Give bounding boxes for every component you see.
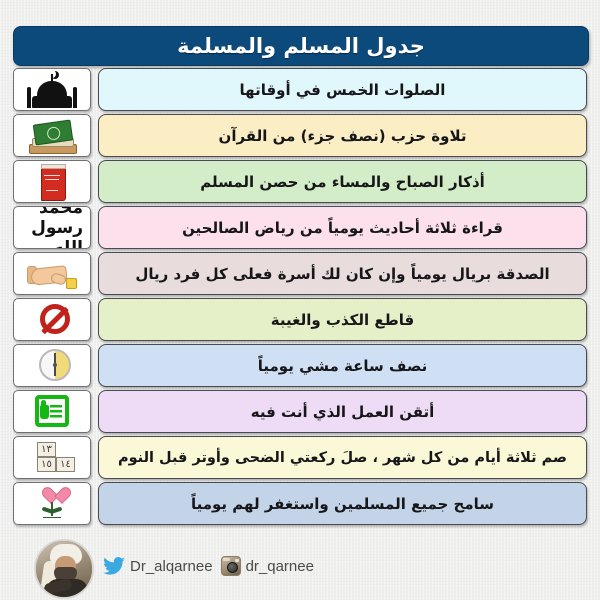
- row-icon-cell: [13, 344, 91, 387]
- clock-icon: [21, 347, 83, 385]
- row-text-cell: قاطع الكذب والغيبة: [98, 298, 587, 341]
- table-row: الصلوات الخمس في أوقاتها: [13, 68, 587, 111]
- row-label: صم ثلاثة أيام من كل شهر ، صلَ ركعتي الضح…: [112, 450, 573, 466]
- poster-root: جدول المسلم والمسلمة الصلوات الخمس في أو…: [0, 0, 600, 600]
- social-handles: Dr_alqarnee dr_qarnee: [103, 556, 314, 576]
- row-text-cell: الصدقة بريال يومياً وإن كان لك أسرة فعلى…: [98, 252, 587, 295]
- row-label: تلاوة حزب (نصف جزء) من القرآن: [213, 127, 473, 145]
- twitter-icon: [103, 557, 125, 575]
- row-icon-cell: [13, 390, 91, 433]
- calendar-day: ١٣: [37, 442, 56, 457]
- page-title-banner: جدول المسلم والمسلمة: [13, 26, 589, 66]
- instagram-handle-text: dr_qarnee: [246, 558, 314, 575]
- row-label: الصدقة بريال يومياً وإن كان لك أسرة فعلى…: [129, 265, 555, 283]
- row-label: أتقن العمل الذي أنت فيه: [245, 403, 441, 421]
- red-book-icon: [21, 163, 83, 201]
- table-row: قراءة ثلاثة أحاديث يومياً من رياض الصالح…: [13, 206, 587, 249]
- row-icon-cell: [13, 298, 91, 341]
- row-text-cell: أتقن العمل الذي أنت فيه: [98, 390, 587, 433]
- row-label: سامح جميع المسلمين واستغفر لهم يومياً: [185, 495, 500, 513]
- twitter-handle[interactable]: Dr_alqarnee: [103, 557, 213, 575]
- footer: Dr_alqarnee dr_qarnee: [0, 536, 600, 600]
- table-row: تلاوة حزب (نصف جزء) من القرآن: [13, 114, 587, 157]
- row-text-cell: الصلوات الخمس في أوقاتها: [98, 68, 587, 111]
- calendar-icon: ١٣ ١٥ ١٤: [21, 439, 83, 477]
- table-row: صم ثلاثة أيام من كل شهر ، صلَ ركعتي الضح…: [13, 436, 587, 479]
- mosque-icon: [21, 71, 83, 109]
- row-label: الصلوات الخمس في أوقاتها: [234, 81, 452, 99]
- row-icon-cell: محمد رسول الله: [13, 206, 91, 249]
- row-icon-cell: [13, 252, 91, 295]
- table-row: سامح جميع المسلمين واستغفر لهم يومياً: [13, 482, 587, 525]
- instagram-handle[interactable]: dr_qarnee: [221, 556, 314, 576]
- quran-book-icon: [21, 117, 83, 155]
- calendar-day: ١٤: [56, 457, 75, 472]
- calligraphy-text: محمد رسول الله: [21, 209, 83, 247]
- row-icon-cell: [13, 114, 91, 157]
- schedule-table: الصلوات الخمس في أوقاتها تلاوة حزب (نصف …: [13, 68, 587, 528]
- row-text-cell: تلاوة حزب (نصف جزء) من القرآن: [98, 114, 587, 157]
- table-row: أذكار الصباح والمساء من حصن المسلم: [13, 160, 587, 203]
- thumbs-up-icon: [21, 393, 83, 431]
- row-icon-cell: ١٣ ١٥ ١٤: [13, 436, 91, 479]
- avatar: [34, 539, 94, 599]
- row-label: قراءة ثلاثة أحاديث يومياً من رياض الصالح…: [176, 219, 509, 237]
- row-icon-cell: [13, 68, 91, 111]
- row-label: نصف ساعة مشي يومياً: [252, 357, 433, 375]
- table-row: نصف ساعة مشي يومياً: [13, 344, 587, 387]
- prohibition-icon: [21, 301, 83, 339]
- table-row: قاطع الكذب والغيبة: [13, 298, 587, 341]
- table-row: الصدقة بريال يومياً وإن كان لك أسرة فعلى…: [13, 252, 587, 295]
- row-icon-cell: [13, 160, 91, 203]
- twitter-handle-text: Dr_alqarnee: [130, 558, 213, 575]
- row-label: قاطع الكذب والغيبة: [265, 311, 420, 329]
- row-label: أذكار الصباح والمساء من حصن المسلم: [194, 173, 491, 191]
- table-row: أتقن العمل الذي أنت فيه: [13, 390, 587, 433]
- page-title: جدول المسلم والمسلمة: [177, 36, 425, 57]
- calendar-day: ١٥: [37, 457, 56, 472]
- row-text-cell: أذكار الصباح والمساء من حصن المسلم: [98, 160, 587, 203]
- row-text-cell: صم ثلاثة أيام من كل شهر ، صلَ ركعتي الضح…: [98, 436, 587, 479]
- row-text-cell: نصف ساعة مشي يومياً: [98, 344, 587, 387]
- row-text-cell: سامح جميع المسلمين واستغفر لهم يومياً: [98, 482, 587, 525]
- hand-coin-icon: [21, 255, 83, 293]
- row-icon-cell: [13, 482, 91, 525]
- instagram-icon: [221, 556, 241, 576]
- calligraphy-icon: محمد رسول الله: [21, 209, 83, 247]
- row-text-cell: قراءة ثلاثة أحاديث يومياً من رياض الصالح…: [98, 206, 587, 249]
- heart-flower-icon: [21, 485, 83, 523]
